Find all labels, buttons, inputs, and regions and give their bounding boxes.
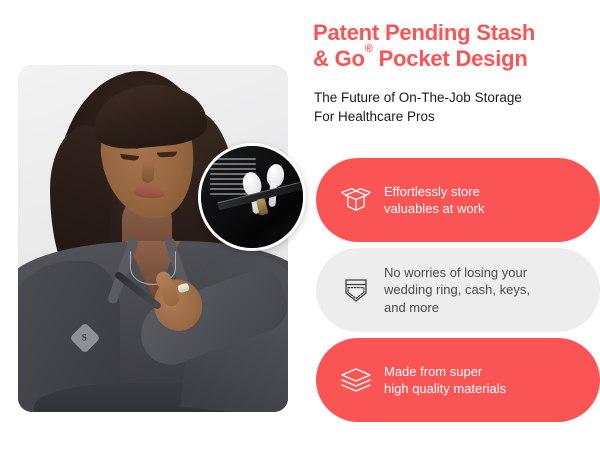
feature-text-line-1: Effortlessly store [384, 184, 480, 199]
feature-text-line-1: No worries of losing your [384, 265, 527, 280]
open-box-icon [334, 178, 378, 222]
feature-list: Effortlessly store valuables at work No … [316, 158, 600, 428]
subtitle-line-1: The Future of On-The-Job Storage [314, 90, 522, 105]
page-subtitle: The Future of On-The-Job Storage For Hea… [314, 88, 596, 126]
feature-pill-text: Made from super high quality materials [378, 363, 506, 398]
feature-pill-text: No worries of losing your wedding ring, … [378, 264, 530, 316]
feature-text-line-2: high quality materials [384, 381, 506, 396]
feature-pill-no-worries: No worries of losing your wedding ring, … [316, 248, 600, 332]
subtitle-line-2: For Healthcare Pros [314, 109, 435, 124]
headline-line-1: Patent Pending Stash [313, 20, 535, 45]
feature-pill-store-valuables: Effortlessly store valuables at work [316, 158, 600, 242]
nose [141, 161, 154, 184]
page-title: Patent Pending Stash & Go® Pocket Design [313, 20, 593, 72]
shirt-pocket-icon [334, 268, 378, 312]
content-column: Patent Pending Stash & Go® Pocket Design… [313, 0, 600, 450]
headline-line-2-pre: & Go [313, 46, 365, 71]
feature-text-line-3: and more [384, 300, 439, 315]
headline-line-2-post: Pocket Design [373, 46, 528, 71]
feature-text-line-1: Made from super [384, 364, 482, 379]
registered-trademark-icon: ® [365, 43, 373, 55]
brand-logo-letter: S [82, 333, 87, 342]
feature-text-line-2: wedding ring, cash, keys, [384, 282, 530, 297]
feature-pill-text: Effortlessly store valuables at work [378, 183, 484, 218]
feature-pill-quality-materials: Made from super high quality materials [316, 338, 600, 422]
zoom-inset [198, 143, 306, 251]
feature-text-line-2: valuables at work [384, 201, 484, 216]
fabric-layers-icon [334, 358, 378, 402]
